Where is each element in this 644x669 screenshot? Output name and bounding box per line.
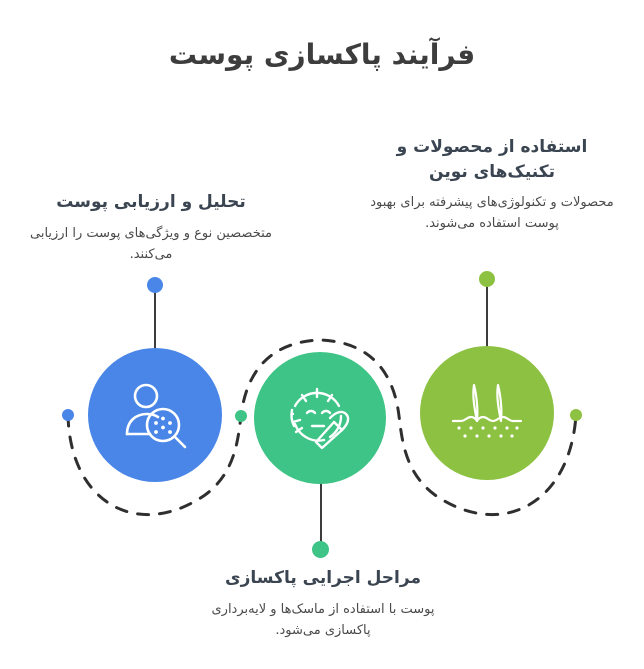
- path-dot-left: [62, 409, 74, 421]
- page-title: فرآیند پاکسازی پوست: [0, 38, 644, 71]
- path-dot-middle: [235, 410, 247, 422]
- step-body-execution: پوست با استفاده از ماسک‌ها و لایه‌برداری…: [192, 599, 454, 641]
- path-dot-right: [570, 409, 582, 421]
- skin-pores-follicles-icon: [447, 373, 527, 453]
- step-text-execution: مراحل اجرایی پاکسازی پوست با استفاده از …: [192, 566, 454, 641]
- person-magnifier-skin-icon: [116, 376, 194, 454]
- step-body-analysis: متخصصین نوع و ویژگی‌های پوست را ارزیابی …: [28, 223, 274, 265]
- step-circle-products[interactable]: [420, 346, 554, 480]
- step-heading-products: استفاده از محصولات و تکنیک‌های نوین: [366, 135, 618, 184]
- step-heading-analysis: تحلیل و ارزیابی پوست: [28, 190, 274, 215]
- step-circle-execution[interactable]: [254, 352, 386, 484]
- face-brush-icon: [282, 380, 358, 456]
- step-text-products: استفاده از محصولات و تکنیک‌های نوین محصو…: [366, 135, 618, 234]
- stem-dot-bottom: [312, 541, 329, 558]
- stem-dot-left: [147, 277, 163, 293]
- step-body-products: محصولات و تکنولوژی‌های پیشرفته برای بهبو…: [366, 192, 618, 234]
- step-circle-analysis[interactable]: [88, 348, 222, 482]
- connector-stem-bottom: [320, 480, 322, 548]
- step-heading-execution: مراحل اجرایی پاکسازی: [192, 566, 454, 591]
- stem-dot-right: [479, 271, 495, 287]
- infographic-canvas: فرآیند پاکسازی پوست: [0, 0, 644, 669]
- step-text-analysis: تحلیل و ارزیابی پوست متخصصین نوع و ویژگی…: [28, 190, 274, 265]
